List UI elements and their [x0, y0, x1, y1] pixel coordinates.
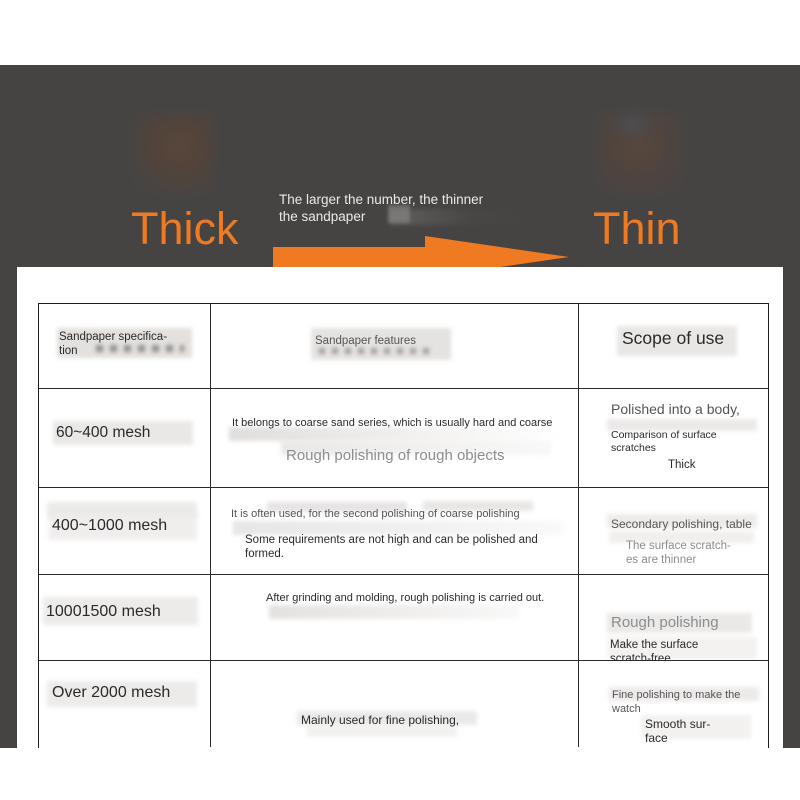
cell-features-secondary: Rough polishing of rough objects	[286, 447, 504, 464]
cell-specification-value: 10001500 mesh	[46, 603, 161, 621]
header-label-specification: Sandpaper specifica- tion	[59, 330, 194, 358]
cell-features: After grinding and molding, rough polish…	[211, 575, 579, 660]
cell-scope-primary: Polished into a body,	[611, 401, 740, 417]
cell-scope-primary: Rough polishing	[611, 614, 719, 631]
header-cell-specification: Sandpaper specifica- tion	[39, 304, 211, 388]
cell-scope-secondary: Comparison of surface scratches	[611, 429, 751, 455]
cell-features-primary: It belongs to coarse sand series, which …	[232, 417, 562, 431]
cell-specification-value: 60~400 mesh	[56, 424, 150, 442]
hero-label-thick: Thick	[131, 206, 239, 251]
screenshot-root: Thick Thin The larger the number, the th…	[0, 0, 800, 800]
right-edge-strip	[783, 267, 800, 748]
ghost-artifact-right-top	[616, 111, 650, 137]
sandpaper-grit-table: Sandpaper specifica- tion Sandpaper feat…	[38, 303, 769, 748]
cell-scope-secondary: The surface scratch- es are thinner	[626, 539, 756, 567]
hero-label-thin: Thin	[593, 206, 681, 251]
cell-features-secondary: Mainly used for fine polishing,	[301, 713, 459, 727]
cell-scope-tertiary: Thick	[668, 459, 695, 471]
cell-specification: 400~1000 mesh	[39, 488, 211, 574]
table-row: Over 2000 mesh Mainly used for fine poli…	[39, 661, 768, 747]
header-label-scope: Scope of use	[622, 328, 724, 349]
cell-scope: Fine polishing to make the watch Smooth …	[579, 661, 768, 747]
cell-features: It belongs to coarse sand series, which …	[211, 389, 579, 487]
cell-scope-primary: Fine polishing to make the watch	[612, 689, 757, 716]
cell-specification: Over 2000 mesh	[39, 661, 211, 747]
header-label-features: Sandpaper features	[315, 335, 416, 347]
hero-caption: The larger the number, the thinner the s…	[279, 191, 529, 225]
cell-features: Mainly used for fine polishing,	[211, 661, 579, 747]
header-cell-features: Sandpaper features	[211, 304, 579, 388]
table-header-row: Sandpaper specifica- tion Sandpaper feat…	[39, 304, 768, 389]
hero-banner: Thick Thin The larger the number, the th…	[0, 65, 800, 267]
left-edge-strip	[0, 267, 17, 748]
cell-specification-value: Over 2000 mesh	[52, 684, 170, 702]
cell-features-primary: It is often used, for the second polishi…	[231, 508, 571, 520]
right-arrow-icon	[273, 233, 569, 267]
cell-scope: Secondary polishing, table The surface s…	[579, 488, 768, 574]
table-row: 10001500 mesh After grinding and molding…	[39, 575, 768, 661]
cell-scope-primary: Secondary polishing, table	[611, 517, 752, 531]
cell-features: It is often used, for the second polishi…	[211, 488, 579, 574]
cell-specification: 10001500 mesh	[39, 575, 211, 660]
cell-scope: Rough polishing Make the surface scratch…	[579, 575, 768, 660]
cell-specification-value: 400~1000 mesh	[52, 517, 167, 535]
header-cell-scope: Scope of use	[579, 304, 768, 388]
cell-scope-secondary: Make the surface scratch-free	[610, 639, 760, 660]
cell-specification: 60~400 mesh	[39, 389, 211, 487]
cell-scope: Polished into a body, Comparison of surf…	[579, 389, 768, 487]
table-row: 60~400 mesh It belongs to coarse sand se…	[39, 389, 768, 488]
cell-features-secondary: Some requirements are not high and can b…	[245, 533, 563, 561]
ghost-artifact-left	[128, 112, 216, 197]
table-row: 400~1000 mesh It is often used, for the …	[39, 488, 768, 575]
cell-scope-secondary: Smooth sur- face	[645, 717, 735, 745]
cell-features-primary: After grinding and molding, rough polish…	[266, 591, 566, 605]
